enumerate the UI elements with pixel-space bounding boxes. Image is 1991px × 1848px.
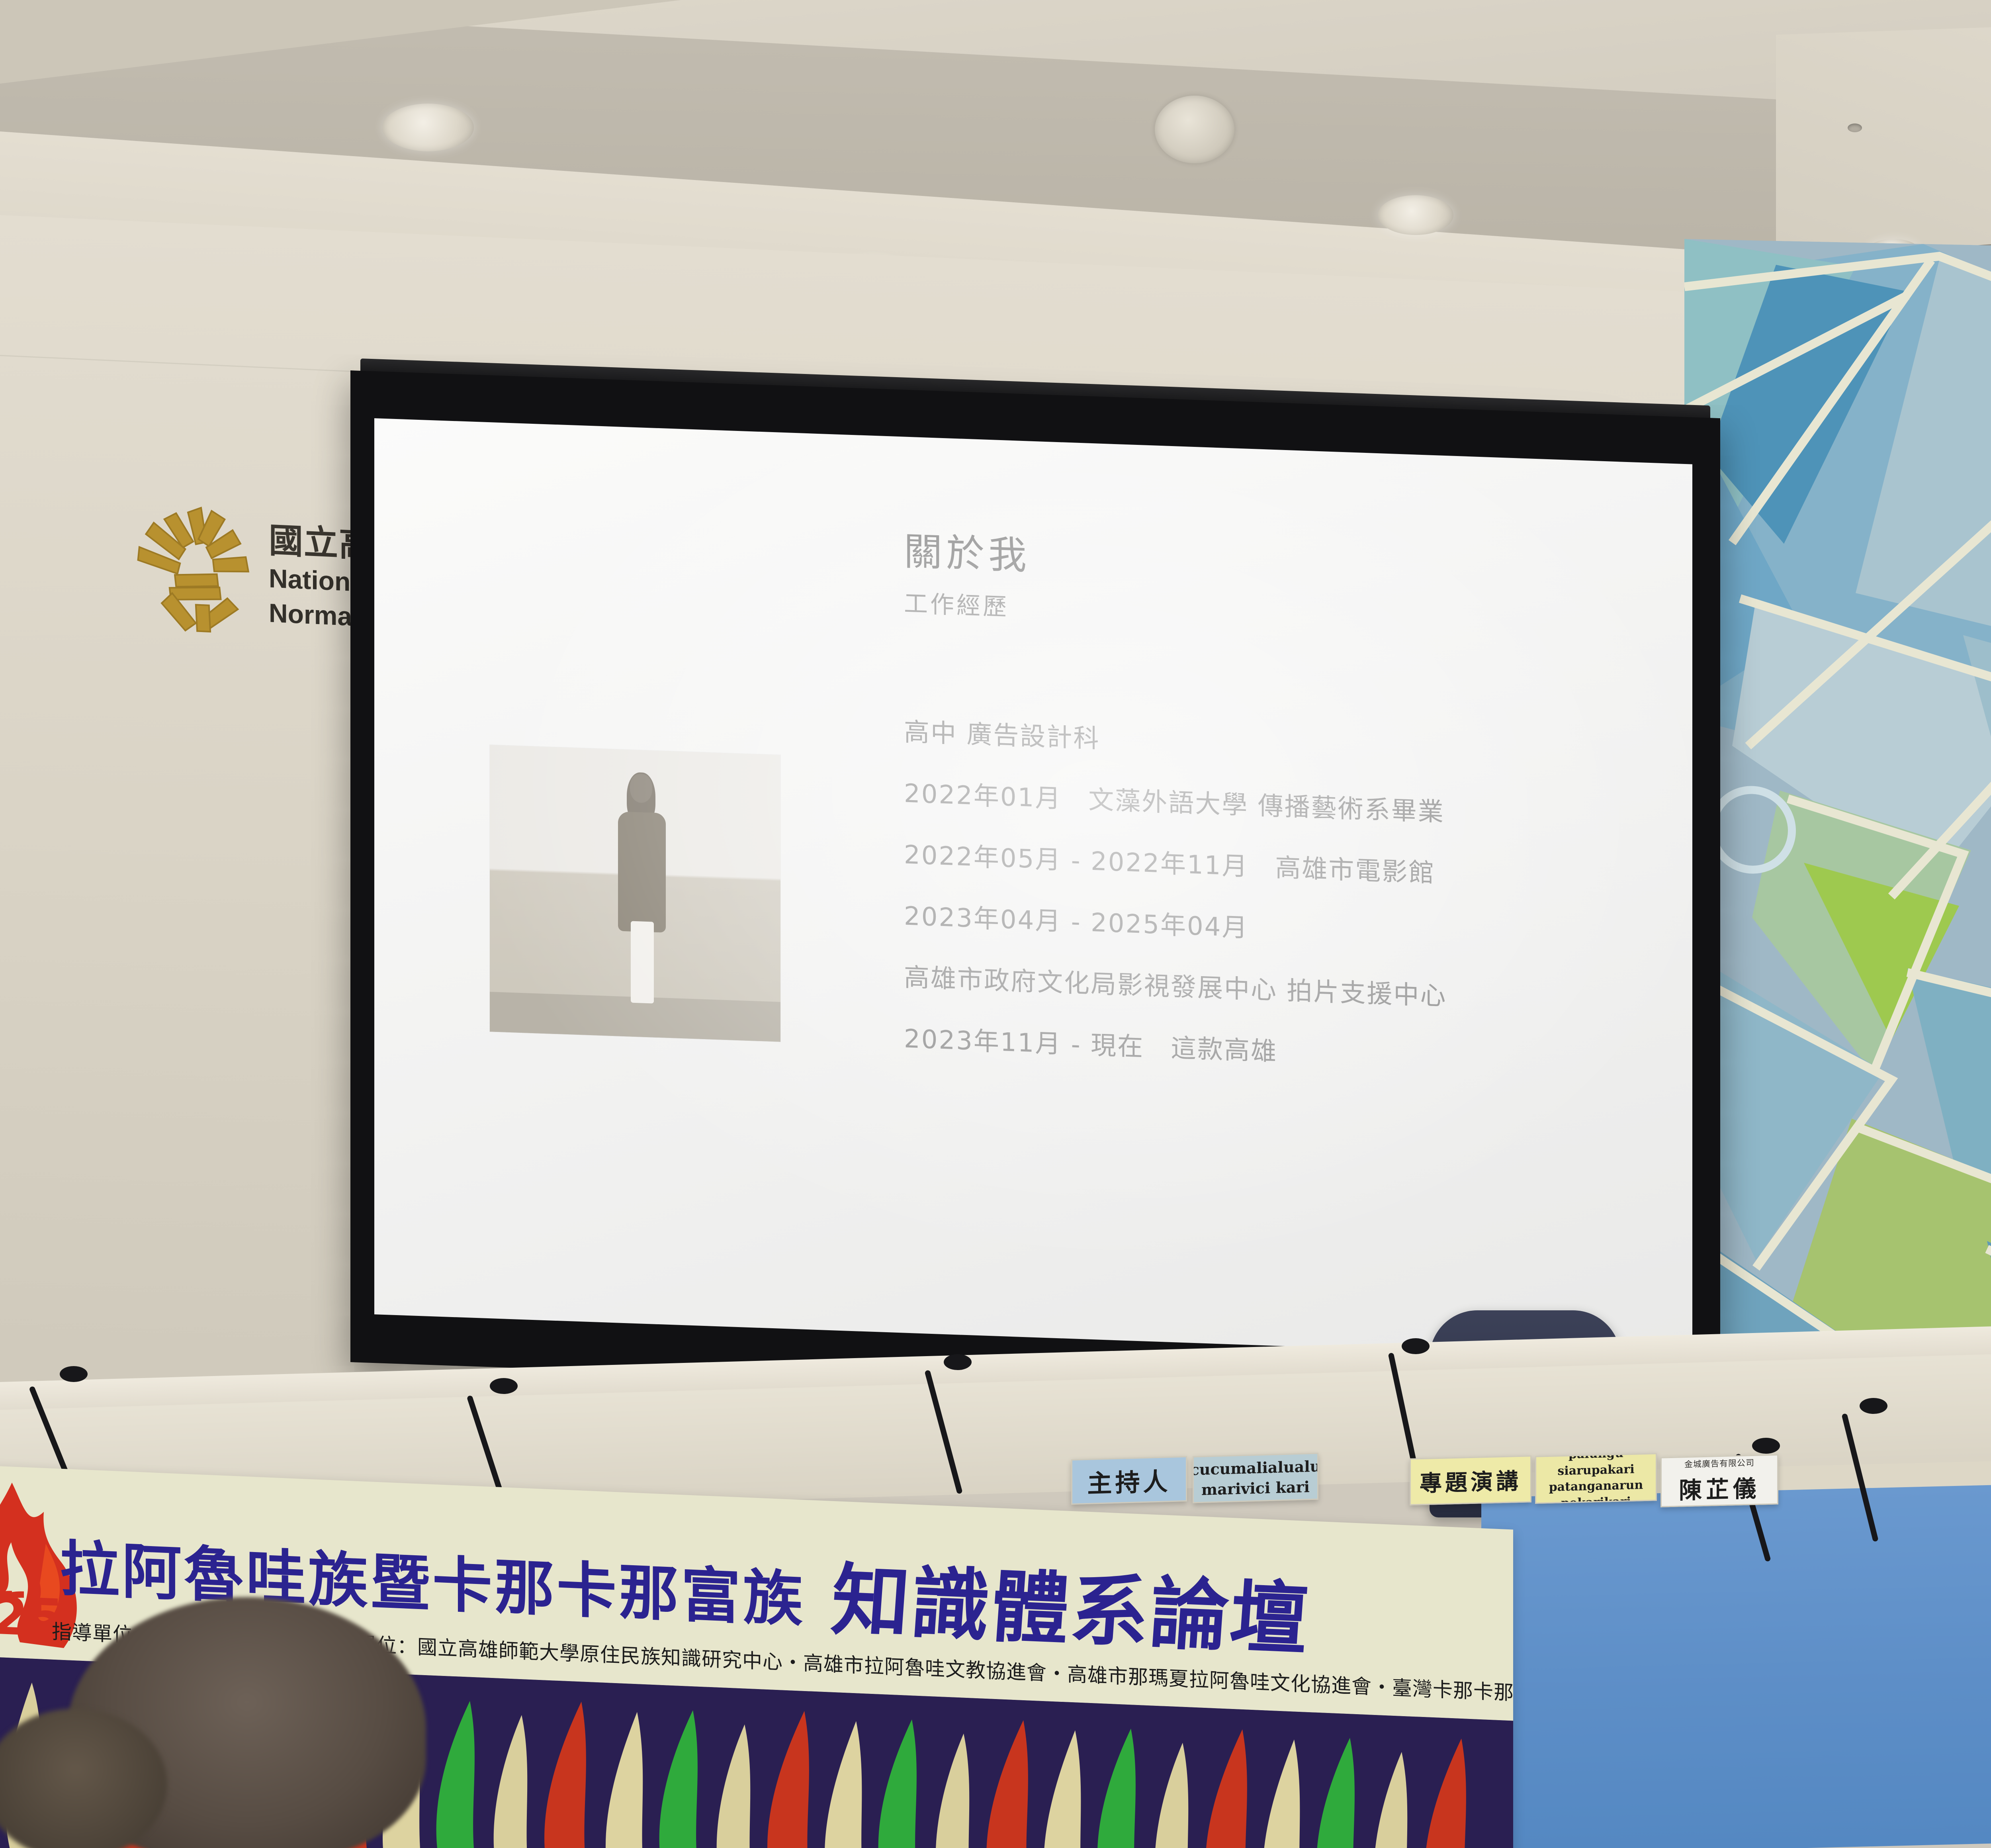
placard-host-role: 主持人 bbox=[1071, 1456, 1187, 1505]
placard-speaker-name-text: 陳芷儀 bbox=[1679, 1470, 1760, 1505]
slide-body-lines: 高中 廣告設計科 2022年01月 文藻外語大學 傳播藝術系畢業 2022年05… bbox=[904, 712, 1660, 1106]
figure-legs bbox=[631, 921, 654, 1004]
table-front-panel bbox=[1481, 1466, 1991, 1848]
mic-head-6 bbox=[1752, 1438, 1780, 1454]
downlight-1 bbox=[382, 104, 474, 151]
photo-figure bbox=[609, 773, 673, 998]
slide-line-5: 高雄市政府文化局影視發展中心 拍片支援中心 bbox=[904, 957, 1660, 1020]
slide-photo bbox=[490, 745, 780, 1041]
placard-speaker-name: 金城廣告有限公司 陳芷儀 bbox=[1660, 1454, 1778, 1507]
slide-line-1: 高中 廣告設計科 bbox=[904, 712, 1660, 775]
slide-subtitle: 工作經歷 bbox=[904, 584, 1009, 623]
geometric-wall-art bbox=[1684, 239, 1991, 1456]
placard-keynote-line1: palungu siarupakari bbox=[1536, 1453, 1656, 1480]
nknu-crest-icon bbox=[135, 497, 267, 639]
ceiling-screw bbox=[1848, 123, 1862, 132]
slide-line-4: 2023年04月 - 2025年04月 bbox=[904, 896, 1660, 959]
figure-head bbox=[630, 774, 652, 803]
projection-screen: 關於我 工作經歷 高中 廣告設計科 2022年01月 文藻外語大學 傳播藝術系畢… bbox=[350, 370, 1720, 1410]
conference-room-photo: 國立高雄 National Normal bbox=[0, 0, 1991, 1848]
mic-head-1 bbox=[60, 1366, 88, 1382]
mic-head-3 bbox=[944, 1354, 972, 1370]
placard-host-name-line1: cucumalialualu bbox=[1193, 1456, 1318, 1480]
mic-head-4 bbox=[1402, 1338, 1430, 1354]
screen-surface: 關於我 工作經歷 高中 廣告設計科 2022年01月 文藻外語大學 傳播藝術系畢… bbox=[374, 418, 1692, 1361]
slide-line-3: 2022年05月 - 2022年11月 高雄市電影館 bbox=[904, 834, 1660, 897]
placard-speaker-company: 金城廣告有限公司 bbox=[1684, 1456, 1754, 1470]
slide-line-6: 2023年11月 - 現在 這款高雄 bbox=[904, 1018, 1660, 1081]
downlight-3 bbox=[1378, 195, 1453, 235]
placard-keynote-line2: patanganarun pokarikari bbox=[1536, 1477, 1656, 1503]
mic-head-5 bbox=[1860, 1398, 1887, 1414]
placard-host-role-text: 主持人 bbox=[1087, 1461, 1171, 1500]
placard-keynote-role-text: 專題演講 bbox=[1420, 1463, 1522, 1498]
placard-keynote-role: 專題演講 bbox=[1410, 1455, 1531, 1505]
placard-keynote-name: palungu siarupakari patanganarun pokarik… bbox=[1535, 1453, 1657, 1503]
slide-line-2: 2022年01月 文藻外語大學 傳播藝術系畢業 bbox=[904, 773, 1660, 836]
placard-host-name-line2: marivici kari bbox=[1201, 1476, 1310, 1500]
placard-host-name: cucumalialualu marivici kari bbox=[1193, 1453, 1318, 1503]
figure-coat bbox=[618, 811, 666, 932]
presentation-slide: 關於我 工作經歷 高中 廣告設計科 2022年01月 文藻外語大學 傳播藝術系畢… bbox=[374, 418, 1692, 1361]
ceiling-speaker-dome bbox=[1155, 96, 1234, 163]
banner-calligraphy-title: 知識體系論壇 bbox=[828, 1537, 1314, 1669]
mic-head-2 bbox=[490, 1378, 518, 1394]
slide-title: 關於我 bbox=[904, 521, 1031, 580]
